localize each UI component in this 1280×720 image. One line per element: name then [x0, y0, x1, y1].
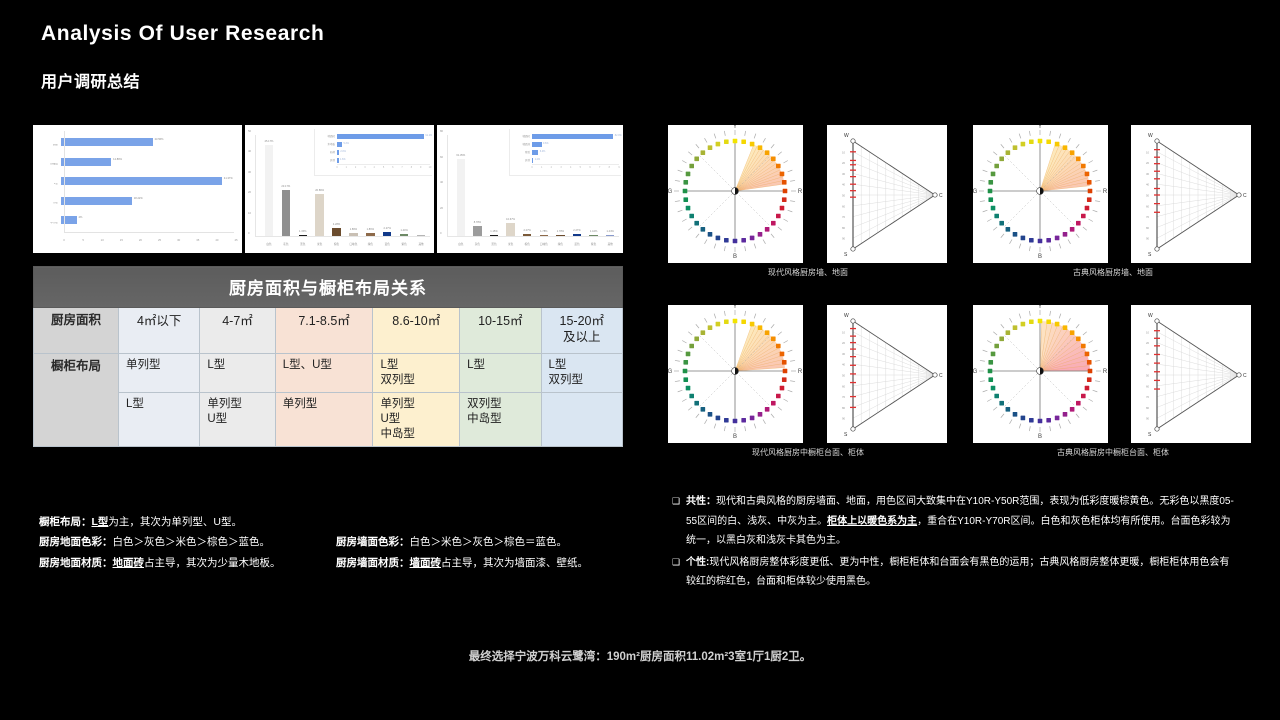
bar-category-label: 黑色 [300, 242, 305, 246]
bar-value-label: 12.89% [113, 159, 122, 162]
bullet-marker-icon: ❑ [672, 492, 686, 551]
y-tick-label: 50 [248, 129, 251, 133]
inset-bar-fill [337, 158, 339, 163]
bar-track: 41.37% [61, 174, 236, 194]
x-tick-label: 25 [158, 238, 161, 242]
note-item: 厨房地面材质：地面砖占主导，其次为少量木地板。 [39, 553, 336, 573]
bar-track: 12.89% [61, 155, 236, 175]
ncs-caption-0: 现代风格厨房墙、地面 [668, 267, 948, 278]
inset-bar-category: 地面砖 [317, 134, 337, 138]
svg-text:S: S [844, 432, 848, 438]
svg-text:S: S [1148, 252, 1152, 258]
x-tick-label: 45 [234, 238, 237, 242]
inset-bar-value: 91.2% [425, 134, 432, 137]
bar-category-label: 绿色 [558, 242, 563, 246]
bar-category-label: 小型 [37, 202, 61, 205]
inset-bar-track: 1.2% [532, 156, 619, 164]
ncs-color-circle-svg: YRBG [668, 125, 803, 263]
svg-text:G: G [973, 369, 978, 375]
bar-row: 顶楼层12.89% [37, 155, 236, 175]
inset-x-axis: 0123456789 [532, 164, 619, 170]
inset-x-tick: 3 [364, 166, 365, 169]
svg-text:70: 70 [842, 215, 846, 219]
y-tick-label: 60 [440, 155, 443, 159]
inset-bar-row: 木地板5.2% [317, 140, 430, 148]
bar-value-label: 1.78% [557, 230, 564, 233]
bar-value-label: 1.86% [367, 228, 374, 231]
svg-text:C: C [939, 193, 943, 199]
footer-conclusion: 最终选择宁波万科云鹭湾：190m²厨房面积11.02m²3室1厅1厨2卫。 [0, 648, 1280, 664]
bar-value-label: 1.86% [350, 228, 357, 231]
ncs-color-circle-classic-cabinet: YRBG [973, 305, 1108, 443]
chart-panel-floor-color: 白色45.17%灰色23.17%黑色1.15%米色20.89%棕色4.28%口味… [245, 125, 434, 253]
x-tick-label: 5 [82, 238, 84, 242]
inset-x-tick: 5 [580, 166, 581, 169]
inset-bar-track: 82.0% [532, 132, 619, 140]
bar-category-label: 绿色 [368, 242, 373, 246]
right-bullet-list: ❑共性：现代和古典风格的厨房墙面、地面，用色区间大致集中在Y10R-Y50R范围… [672, 492, 1237, 594]
x-tick-label: 20 [139, 238, 142, 242]
bar-value-label: 2.27% [524, 229, 531, 232]
bar-value-label: 23.56% [155, 139, 164, 142]
inset-bar-chart-wall-material: 墙面砖82.0%墙面漆9.6%壁纸6.4%其他1.2%0123456789 [509, 129, 621, 176]
inset-x-tick: 2 [551, 166, 552, 169]
area-cell-3: 8.6-10㎡ [373, 308, 460, 354]
bar-category-label: 灰色 [475, 242, 480, 246]
bar-category-label: 蓝色 [385, 242, 390, 246]
inset-x-tick: 8 [609, 166, 610, 169]
bar-value-label: 45.17% [265, 140, 274, 143]
svg-text:Y: Y [1038, 125, 1042, 130]
y-tick-label: 0 [440, 231, 442, 235]
bullet-text: 共性：现代和古典风格的厨房墙面、地面，用色区间大致集中在Y10R-Y50R范围，… [686, 492, 1237, 551]
inset-x-tick: 4 [570, 166, 571, 169]
y-axis [255, 135, 256, 237]
inset-x-tick: 0 [336, 166, 337, 169]
chart-strip: 别墅23.56%顶楼层12.89%L型41.37%小型18.22%中小型4%05… [33, 125, 623, 253]
bar-value-label: 1.44% [400, 229, 407, 232]
page-subtitle-chinese: 用户调研总结 [41, 68, 140, 92]
svg-text:60: 60 [1146, 384, 1150, 388]
bar: 白色45.17% [265, 145, 273, 237]
svg-text:B: B [733, 254, 737, 260]
bar-value-label: 18.22% [134, 198, 143, 201]
svg-text:G: G [668, 369, 673, 375]
layout-secondary-5 [541, 392, 622, 447]
inset-bar-fill [337, 150, 339, 155]
bar-category-label: 口味色 [540, 242, 548, 246]
note-item: 厨房墙面材质：墙面砖占主导，其次为墙面漆、壁纸。 [336, 553, 633, 573]
svg-text:S: S [844, 252, 848, 258]
bullet-item: ❑共性：现代和古典风格的厨房墙面、地面，用色区间大致集中在Y10R-Y50R范围… [672, 492, 1237, 551]
ncs-color-triangle-classic-cabinet: WSC102030405060708090 [1131, 305, 1251, 443]
bar-fill [61, 197, 132, 205]
table-title-row: 厨房面积与橱柜布局关系 [34, 267, 623, 308]
svg-text:60: 60 [842, 384, 846, 388]
layout-primary-0: 单列型 [119, 353, 200, 392]
svg-text:80: 80 [842, 406, 846, 410]
left-summary-notes: 橱柜布局：L型为主，其次为单列型、U型。厨房地面色彩：白色＞灰色＞米色＞棕色＞蓝… [39, 512, 639, 573]
svg-text:40: 40 [1146, 363, 1150, 367]
svg-text:10: 10 [842, 150, 846, 154]
svg-text:S: S [1148, 432, 1152, 438]
y-tick-label: 30 [248, 170, 251, 174]
bar-category-label: 灰色 [283, 242, 288, 246]
svg-text:40: 40 [1146, 183, 1150, 187]
inset-bar-value: 2.0% [340, 150, 345, 153]
bar-value-label: 41.37% [224, 178, 233, 181]
inset-bar-track: 5.2% [337, 140, 430, 148]
inset-bar-fill [337, 134, 424, 139]
layout-primary-1: L型 [200, 353, 275, 392]
bar-category-label: 米色 [317, 242, 322, 246]
inset-bar-chart-floor-material: 地面砖91.2%木地板5.2%石材2.0%其他1.6%012345678910 [314, 129, 432, 176]
svg-text:80: 80 [1146, 226, 1150, 230]
bar-category-label: 米色 [508, 242, 513, 246]
layout-primary-5: L型双列型 [541, 353, 622, 392]
inset-bar-category: 壁纸 [512, 150, 532, 154]
x-tick-label: 0 [63, 238, 65, 242]
y-axis [64, 131, 65, 233]
svg-text:C: C [1243, 373, 1247, 379]
bar-category-label: 棕色 [525, 242, 530, 246]
svg-text:20: 20 [1146, 161, 1150, 165]
bar-value-label: 4.28% [333, 223, 340, 226]
layout-primary-2: L型、U型 [275, 353, 373, 392]
inset-bar-category: 墙面砖 [512, 134, 532, 138]
ncs-color-circle-svg: YRBG [973, 305, 1108, 443]
area-cell-1: 4-7㎡ [200, 308, 275, 354]
inset-x-tick: 9 [420, 166, 421, 169]
svg-text:W: W [844, 313, 849, 319]
ncs-color-triangle-svg: WSC102030405060708090 [827, 125, 947, 263]
y-tick-label: 80 [440, 129, 443, 133]
inset-x-tick: 6 [392, 166, 393, 169]
svg-text:C: C [939, 373, 943, 379]
bar-category-label: 紫色 [591, 242, 596, 246]
inset-bar-value: 6.4% [540, 150, 545, 153]
bar-value-label: 1.44% [607, 230, 614, 233]
inset-bar-fill [532, 150, 538, 155]
bar: 白色61.35% [457, 159, 465, 237]
bar-category-label: 其他 [418, 242, 423, 246]
inset-bar-track: 9.6% [532, 140, 619, 148]
table-title: 厨房面积与橱柜布局关系 [34, 267, 623, 308]
svg-text:80: 80 [842, 226, 846, 230]
note-line: 橱柜布局：L型为主，其次为单列型、U型。 [39, 512, 639, 532]
svg-text:20: 20 [842, 161, 846, 165]
svg-text:50: 50 [842, 194, 846, 198]
inset-x-tick: 7 [401, 166, 402, 169]
inset-bar-row: 墙面漆9.6% [512, 140, 619, 148]
bar-row: L型41.37% [37, 174, 236, 194]
x-axis [447, 236, 619, 237]
svg-text:60: 60 [842, 204, 846, 208]
svg-text:10: 10 [1146, 150, 1150, 154]
svg-text:30: 30 [1146, 352, 1150, 356]
page-title-english: Analysis Of User Research [41, 22, 324, 46]
bar-value-label: 20.89% [315, 189, 324, 192]
inset-bar-track: 1.6% [337, 156, 430, 164]
bar-value-label: 4% [79, 217, 83, 220]
bar-fill [61, 158, 111, 166]
bar-category-label: 白色 [266, 242, 271, 246]
ncs-caption-3: 古典风格厨房中橱柜台面、柜体 [973, 447, 1253, 458]
bar-value-label: 61.35% [456, 154, 465, 157]
bar-value-label: 10.67% [506, 218, 515, 221]
ncs-color-circle-svg: YRBG [973, 125, 1108, 263]
kitchen-area-layout-table: 厨房面积与橱柜布局关系 厨房面积 4㎡以下 4-7㎡ 7.1-8.5㎡ 8.6-… [33, 266, 623, 447]
ncs-color-triangle-classic-wall: WSC102030405060708090 [1131, 125, 1251, 263]
inset-bar-row: 地面砖91.2% [317, 132, 430, 140]
horizontal-bar-chart: 别墅23.56%顶楼层12.89%L型41.37%小型18.22%中小型4%05… [37, 131, 236, 247]
inset-x-tick: 5 [383, 166, 384, 169]
note-item: 厨房地面色彩：白色＞灰色＞米色＞棕色＞蓝色。 [39, 532, 336, 552]
area-cell-4: 10-15㎡ [460, 308, 541, 354]
svg-text:W: W [844, 133, 849, 139]
layout-secondary-2: 单列型 [275, 392, 373, 447]
table-row-area: 厨房面积 4㎡以下 4-7㎡ 7.1-8.5㎡ 8.6-10㎡ 10-15㎡ 1… [34, 308, 623, 354]
inset-x-axis: 012345678910 [337, 164, 430, 170]
svg-text:B: B [1038, 254, 1042, 260]
layout-secondary-4: 双列型中岛型 [460, 392, 541, 447]
area-cell-2: 7.1-8.5㎡ [275, 308, 373, 354]
svg-text:30: 30 [842, 352, 846, 356]
bar: 灰色23.17% [282, 190, 290, 237]
bar-value-label: 1.15% [299, 230, 306, 233]
inset-x-tick: 1 [346, 166, 347, 169]
x-tick-label: 40 [215, 238, 218, 242]
bar: 米色20.89% [315, 194, 323, 237]
svg-text:Y: Y [733, 305, 737, 310]
inset-x-tick: 7 [599, 166, 600, 169]
inset-bar-fill [337, 142, 342, 147]
svg-text:20: 20 [842, 341, 846, 345]
bar: 米色10.67% [506, 223, 514, 237]
bar-category-label: 黑色 [491, 242, 496, 246]
inset-bar-category: 木地板 [317, 142, 337, 146]
x-tick-label: 30 [177, 238, 180, 242]
inset-x-tick: 9 [618, 166, 619, 169]
bar-category-label: 蓝色 [574, 242, 579, 246]
bar-category-label: 棕色 [334, 242, 339, 246]
inset-x-tick: 2 [355, 166, 356, 169]
svg-text:90: 90 [1146, 417, 1150, 421]
inset-bar-row: 壁纸6.4% [512, 148, 619, 156]
y-tick-label: 40 [440, 180, 443, 184]
bar-category-label: 顶楼层 [37, 163, 61, 166]
inset-bar-category: 石材 [317, 150, 337, 154]
bar-category-label: L型 [37, 183, 61, 186]
svg-text:40: 40 [842, 363, 846, 367]
ncs-color-circle-svg: YRBG [668, 305, 803, 443]
svg-text:90: 90 [842, 237, 846, 241]
svg-text:40: 40 [842, 183, 846, 187]
ncs-color-triangle-svg: WSC102030405060708090 [1131, 305, 1251, 443]
table-row-layout-secondary: L型 单列型U型 单列型 单列型U型中岛型 双列型中岛型 [34, 392, 623, 447]
bar-category-label: 白色 [458, 242, 463, 246]
bar-value-label: 1.44% [590, 230, 597, 233]
inset-x-tick: 0 [531, 166, 532, 169]
inset-bar-track: 91.2% [337, 132, 430, 140]
bar-value-label: 1.15% [490, 230, 497, 233]
svg-text:Y: Y [1038, 305, 1042, 310]
ncs-color-triangle-modern-wall: WSC102030405060708090 [827, 125, 947, 263]
svg-text:70: 70 [1146, 395, 1150, 399]
bar-row: 小型18.22% [37, 194, 236, 214]
inset-x-tick: 4 [374, 166, 375, 169]
inset-bar-row: 其他1.2% [512, 156, 619, 164]
note-line: 厨房地面材质：地面砖占主导，其次为少量木地板。厨房墙面材质：墙面砖占主导，其次为… [39, 553, 639, 573]
ncs-color-triangle-modern-cabinet: WSC102030405060708090 [827, 305, 947, 443]
bar-track: 23.56% [61, 135, 236, 155]
layout-secondary-1: 单列型U型 [200, 392, 275, 447]
bullet-marker-icon: ❑ [672, 553, 686, 592]
inset-bar-track: 2.0% [337, 148, 430, 156]
svg-text:60: 60 [1146, 204, 1150, 208]
x-tick-label: 10 [101, 238, 104, 242]
x-tick-label: 15 [120, 238, 123, 242]
inset-bar-category: 其他 [512, 158, 532, 162]
bar-row: 中小型4% [37, 213, 236, 233]
bar-track: 4% [61, 213, 236, 233]
row-header-area: 厨房面积 [34, 308, 119, 354]
layout-secondary-0: L型 [119, 392, 200, 447]
layout-primary-4: L型 [460, 353, 541, 392]
bar-value-label: 1.78% [540, 230, 547, 233]
note-item: 厨房墙面色彩：白色＞米色＞灰色＞棕色＝蓝色。 [336, 532, 633, 552]
y-tick-label: 0 [248, 231, 250, 235]
inset-bar-category: 其他 [317, 158, 337, 162]
ncs-caption-1: 古典风格厨房墙、地面 [973, 267, 1253, 278]
bar-fill [61, 138, 153, 146]
svg-text:R: R [1103, 369, 1108, 375]
inset-bar-row: 石材2.0% [317, 148, 430, 156]
svg-text:B: B [733, 434, 737, 440]
inset-bar-value: 1.2% [535, 158, 540, 161]
inset-bar-track: 6.4% [532, 148, 619, 156]
area-cell-0: 4㎡以下 [119, 308, 200, 354]
svg-text:50: 50 [1146, 194, 1150, 198]
note-line: 厨房地面色彩：白色＞灰色＞米色＞棕色＞蓝色。厨房墙面色彩：白色＞米色＞灰色＞棕色… [39, 532, 639, 552]
x-axis [64, 232, 234, 233]
ncs-caption-2: 现代风格厨房中橱柜台面、柜体 [668, 447, 948, 458]
inset-bar-fill [532, 142, 542, 147]
svg-text:B: B [1038, 434, 1042, 440]
inset-x-tick: 3 [560, 166, 561, 169]
inset-x-tick: 10 [429, 166, 432, 169]
inset-bar-category: 墙面漆 [512, 142, 532, 146]
svg-text:90: 90 [842, 417, 846, 421]
svg-text:30: 30 [842, 172, 846, 176]
bar-value-label: 23.17% [281, 185, 290, 188]
inset-bar-row: 墙面砖82.0% [512, 132, 619, 140]
y-tick-label: 20 [440, 206, 443, 210]
y-tick-label: 40 [248, 149, 251, 153]
y-tick-label: 20 [248, 190, 251, 194]
ncs-color-triangle-svg: WSC102030405060708090 [1131, 125, 1251, 263]
svg-text:50: 50 [1146, 374, 1150, 378]
inset-bar-value: 82.0% [615, 134, 622, 137]
bar-row: 别墅23.56% [37, 135, 236, 155]
svg-text:G: G [668, 189, 673, 195]
svg-text:R: R [798, 189, 803, 195]
svg-text:50: 50 [842, 374, 846, 378]
row-header-layout: 橱柜布局 [34, 353, 119, 447]
inset-x-tick: 6 [589, 166, 590, 169]
svg-text:W: W [1148, 133, 1153, 139]
bar-fill [61, 177, 222, 185]
svg-text:C: C [1243, 193, 1247, 199]
area-cell-5: 15-20㎡及以上 [541, 308, 622, 354]
svg-text:80: 80 [1146, 406, 1150, 410]
bar-category-label: 其他 [608, 242, 613, 246]
inset-bar-fill [532, 134, 613, 139]
chart-panel-layout-preference: 别墅23.56%顶楼层12.89%L型41.37%小型18.22%中小型4%05… [33, 125, 242, 253]
inset-bar-row: 其他1.6% [317, 156, 430, 164]
svg-text:R: R [1103, 189, 1108, 195]
svg-text:Y: Y [733, 125, 737, 130]
bar-value-label: 2.27% [573, 229, 580, 232]
inset-x-tick: 8 [411, 166, 412, 169]
svg-text:20: 20 [1146, 341, 1150, 345]
inset-bar-value: 1.6% [340, 158, 345, 161]
bullet-text: 个性:现代风格厨房整体彩度更低、更为中性，橱柜柜体和台面会有黑色的运用；古典风格… [686, 553, 1237, 592]
bullet-item: ❑个性:现代风格厨房整体彩度更低、更为中性，橱柜柜体和台面会有黑色的运用；古典风… [672, 553, 1237, 592]
bar-track: 18.22% [61, 194, 236, 214]
svg-text:R: R [798, 369, 803, 375]
svg-text:70: 70 [842, 395, 846, 399]
note-item: 橱柜布局：L型为主，其次为单列型、U型。 [39, 512, 336, 532]
y-axis [447, 135, 448, 237]
y-tick-label: 10 [248, 211, 251, 215]
inset-bar-value: 9.6% [543, 142, 548, 145]
x-axis [255, 236, 430, 237]
svg-text:10: 10 [1146, 330, 1150, 334]
chart-panel-wall-color: 白色61.35%灰色8.78%黑色1.15%米色10.67%棕色2.27%口味色… [437, 125, 623, 253]
bar-category-label: 别墅 [37, 144, 61, 147]
svg-text:10: 10 [842, 330, 846, 334]
svg-text:G: G [973, 189, 978, 195]
layout-secondary-3: 单列型U型中岛型 [373, 392, 460, 447]
inset-x-tick: 1 [541, 166, 542, 169]
inset-bar-fill [532, 158, 533, 163]
ncs-color-triangle-svg: WSC102030405060708090 [827, 305, 947, 443]
bar-category-label: 口味色 [350, 242, 358, 246]
bar-category-label: 紫色 [402, 242, 407, 246]
svg-text:70: 70 [1146, 215, 1150, 219]
inset-bar-value: 5.2% [343, 142, 348, 145]
layout-primary-3: L型双列型 [373, 353, 460, 392]
table-row-layout-primary: 橱柜布局 单列型 L型 L型、U型 L型双列型 L型 L型双列型 [34, 353, 623, 392]
ncs-color-circle-modern-wall: YRBG [668, 125, 803, 263]
bar-category-label: 中小型 [37, 222, 61, 225]
x-tick-label: 35 [196, 238, 199, 242]
ncs-color-circle-modern-cabinet: YRBG [668, 305, 803, 443]
svg-text:90: 90 [1146, 237, 1150, 241]
bar-value-label: 8.78% [474, 221, 481, 224]
svg-text:W: W [1148, 313, 1153, 319]
bar-value-label: 2.27% [384, 227, 391, 230]
svg-text:30: 30 [1146, 172, 1150, 176]
ncs-color-circle-classic-wall: YRBG [973, 125, 1108, 263]
